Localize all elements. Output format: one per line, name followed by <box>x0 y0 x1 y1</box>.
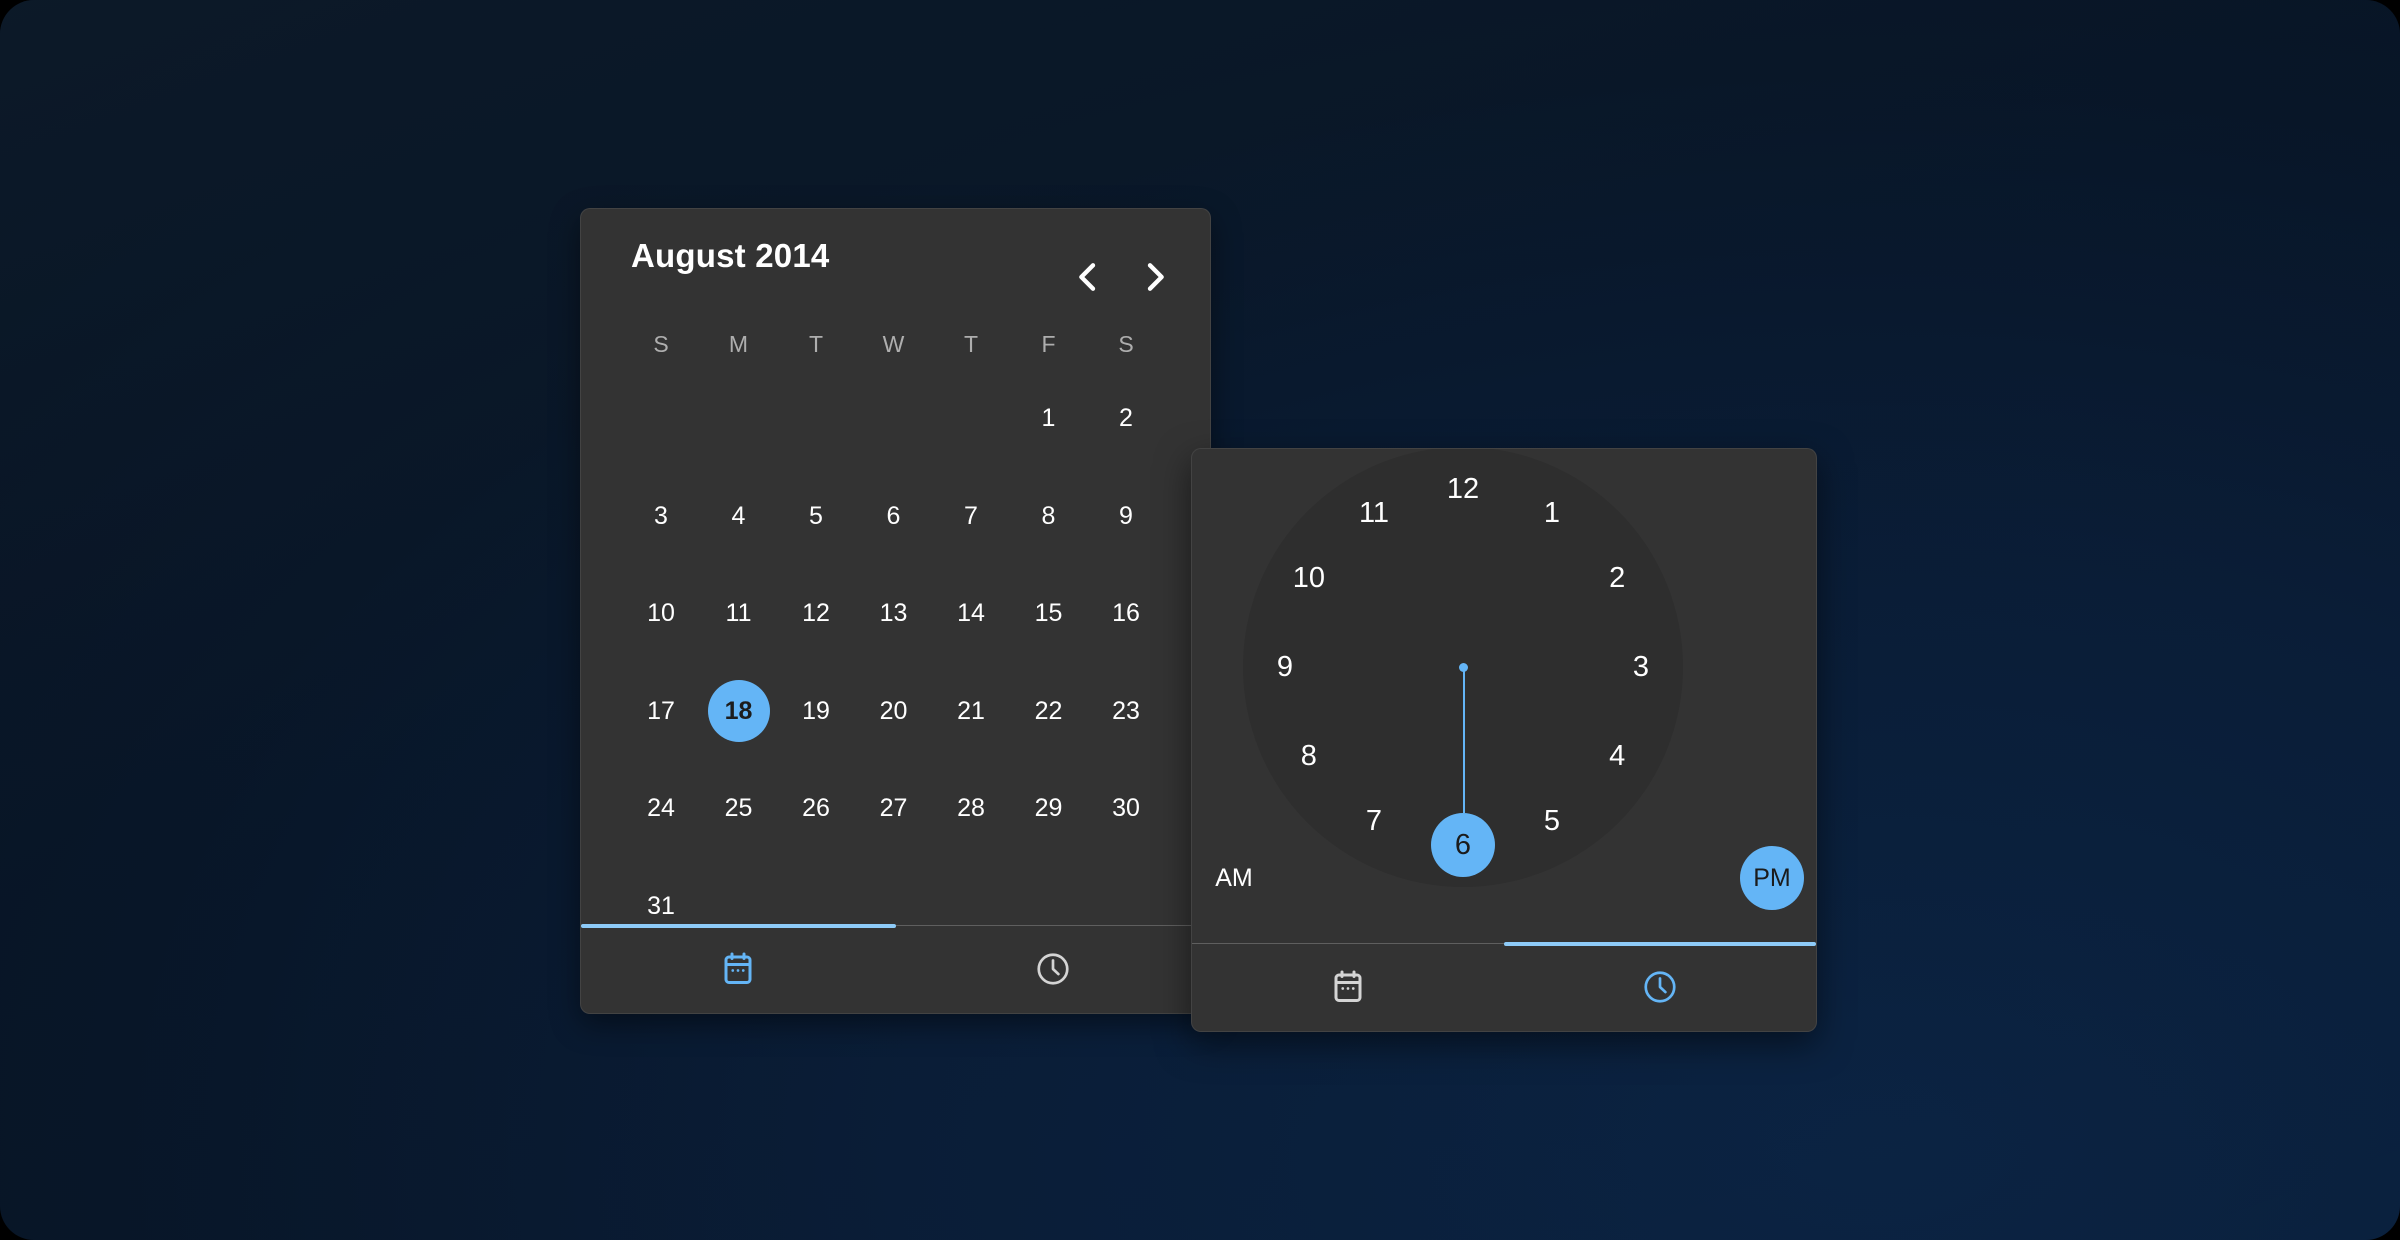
clock-icon <box>1034 950 1072 988</box>
day-cell[interactable]: 16 <box>1095 582 1157 644</box>
clock-hour-12[interactable]: 12 <box>1431 457 1495 521</box>
clock-icon <box>1641 968 1679 1006</box>
tab-date[interactable] <box>581 925 896 1013</box>
tab-date[interactable] <box>1192 943 1504 1031</box>
day-cell[interactable]: 19 <box>785 680 847 742</box>
month-year-label[interactable]: August 2014 <box>631 237 829 275</box>
weekday-label: W <box>866 331 922 358</box>
day-cell[interactable]: 20 <box>863 680 925 742</box>
day-cell[interactable]: 21 <box>940 680 1002 742</box>
day-cell[interactable]: 24 <box>630 777 692 839</box>
day-cell[interactable]: 27 <box>863 777 925 839</box>
time-picker-tabbar <box>1192 943 1816 1031</box>
day-cell[interactable]: 18 <box>708 680 770 742</box>
day-cell[interactable]: 23 <box>1095 680 1157 742</box>
weekday-label: S <box>633 331 689 358</box>
day-cell[interactable]: 13 <box>863 582 925 644</box>
day-cell[interactable]: 25 <box>708 777 770 839</box>
clock-hand <box>1463 667 1465 813</box>
clock-hour-10[interactable]: 10 <box>1277 546 1341 610</box>
day-cell[interactable]: 12 <box>785 582 847 644</box>
day-cell[interactable]: 2 <box>1095 387 1157 449</box>
day-cell[interactable]: 29 <box>1018 777 1080 839</box>
weekday-label: T <box>788 331 844 358</box>
previous-month-button[interactable] <box>1068 257 1108 297</box>
day-cell[interactable]: 7 <box>940 485 1002 547</box>
clock-center-dot <box>1459 663 1468 672</box>
clock-hour-3[interactable]: 3 <box>1609 635 1673 699</box>
clock-hour-8[interactable]: 8 <box>1277 724 1341 788</box>
time-picker-dialog: 121234567891011 AM PM <box>1191 448 1817 1032</box>
day-cell[interactable]: 3 <box>630 485 692 547</box>
day-grid: 1234567891011121314151617181920212223242… <box>581 387 1210 907</box>
date-picker-tabbar <box>581 925 1210 1013</box>
day-cell[interactable]: 9 <box>1095 485 1157 547</box>
screenshot-root: August 2014 SMTWTFS 12345678910111213141… <box>0 0 2400 1240</box>
calendar-icon <box>720 951 756 987</box>
day-cell[interactable]: 1 <box>1018 387 1080 449</box>
day-cell[interactable]: 10 <box>630 582 692 644</box>
clock-hour-2[interactable]: 2 <box>1585 546 1649 610</box>
tab-time[interactable] <box>896 925 1211 1013</box>
clock-hour-4[interactable]: 4 <box>1585 724 1649 788</box>
date-picker-header: August 2014 <box>581 209 1210 317</box>
pm-button[interactable]: PM <box>1740 846 1804 910</box>
day-cell[interactable]: 22 <box>1018 680 1080 742</box>
day-cell[interactable]: 4 <box>708 485 770 547</box>
weekday-label: T <box>943 331 999 358</box>
clock-hour-9[interactable]: 9 <box>1253 635 1317 699</box>
day-cell[interactable]: 6 <box>863 485 925 547</box>
tab-time[interactable] <box>1504 943 1816 1031</box>
weekday-label: M <box>711 331 767 358</box>
day-cell[interactable]: 8 <box>1018 485 1080 547</box>
weekday-header-row: SMTWTFS <box>581 331 1210 371</box>
day-cell[interactable]: 14 <box>940 582 1002 644</box>
clock-hour-11[interactable]: 11 <box>1342 481 1406 545</box>
day-cell[interactable]: 15 <box>1018 582 1080 644</box>
am-button[interactable]: AM <box>1202 846 1266 910</box>
clock-hour-5[interactable]: 5 <box>1520 789 1584 853</box>
day-cell[interactable]: 5 <box>785 485 847 547</box>
weekday-label: S <box>1098 331 1154 358</box>
day-cell[interactable]: 26 <box>785 777 847 839</box>
clock-hour-1[interactable]: 1 <box>1520 481 1584 545</box>
day-cell[interactable]: 11 <box>708 582 770 644</box>
weekday-label: F <box>1021 331 1077 358</box>
day-cell[interactable]: 17 <box>630 680 692 742</box>
date-picker-dialog: August 2014 SMTWTFS 12345678910111213141… <box>580 208 1211 1014</box>
clock-hour-6[interactable]: 6 <box>1431 813 1495 877</box>
day-cell[interactable]: 30 <box>1095 777 1157 839</box>
day-cell[interactable]: 28 <box>940 777 1002 839</box>
next-month-button[interactable] <box>1135 257 1175 297</box>
calendar-icon <box>1330 969 1366 1005</box>
clock-hour-7[interactable]: 7 <box>1342 789 1406 853</box>
